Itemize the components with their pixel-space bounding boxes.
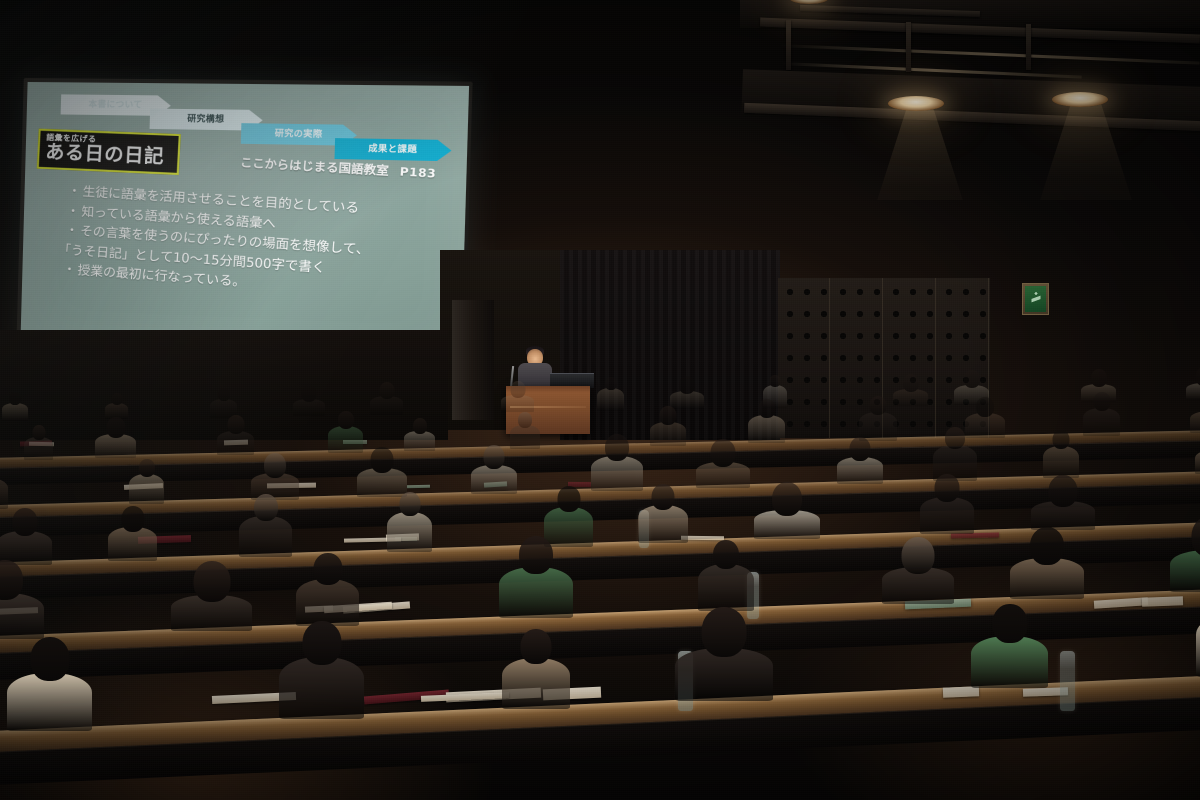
audience-member bbox=[7, 673, 92, 731]
audience-member bbox=[882, 567, 954, 604]
audience-member-head bbox=[1049, 475, 1078, 507]
audience-member-head bbox=[660, 406, 677, 425]
audience-member-head bbox=[679, 376, 695, 394]
audience-member-head bbox=[902, 537, 935, 574]
audience-member bbox=[471, 465, 517, 494]
audience-seating bbox=[0, 390, 1200, 800]
audience-member-head bbox=[605, 377, 617, 390]
projection-screen: 本書について 研究構想 研究の実際 成果と課題 語彙を広げる ある日の日記 ここ… bbox=[20, 82, 469, 365]
audience-member bbox=[171, 595, 252, 631]
audience-member-head bbox=[945, 427, 965, 449]
audience-member bbox=[279, 657, 364, 719]
audience-member-head bbox=[484, 445, 505, 469]
slide-bullet-list: ・生徒に語彙を活用させることを目的としている・知っている語彙から使える語彙へ・そ… bbox=[62, 181, 449, 307]
audience-member-head bbox=[903, 374, 919, 392]
audience-member bbox=[670, 391, 704, 409]
catwalk-rail bbox=[780, 44, 1200, 65]
ceiling-downlight bbox=[888, 96, 944, 111]
audience-member-head bbox=[1196, 367, 1200, 386]
audience-member bbox=[293, 399, 325, 416]
audience-member bbox=[1195, 450, 1200, 474]
slide-title: ある日の日記 bbox=[45, 142, 173, 169]
audience-member bbox=[1186, 383, 1200, 400]
audience-member bbox=[893, 389, 928, 406]
audience-member-head bbox=[9, 392, 21, 405]
audience-member bbox=[1031, 501, 1095, 530]
audience-member-head bbox=[302, 621, 341, 665]
audience-member-head bbox=[1091, 369, 1107, 387]
bullet-marker bbox=[56, 241, 57, 256]
handout-paper bbox=[1142, 596, 1183, 607]
audience-member-head bbox=[139, 459, 155, 477]
audience-member-head bbox=[870, 396, 887, 415]
bullet-marker: ・ bbox=[65, 222, 79, 238]
nav-step-4: 成果と課題 bbox=[334, 138, 451, 161]
audience-member-head bbox=[1030, 527, 1064, 565]
lecture-hall-scene: 本書について 研究構想 研究の実際 成果と課題 語彙を広げる ある日の日記 ここ… bbox=[0, 0, 1200, 800]
audience-member bbox=[696, 462, 750, 488]
audience-member bbox=[129, 474, 164, 504]
audience-member bbox=[239, 516, 292, 557]
green-book bbox=[407, 485, 430, 488]
ceiling-downlight bbox=[1052, 92, 1108, 107]
presentation-slide: 本書について 研究構想 研究の実際 成果と課題 語彙を広げる ある日の日記 ここ… bbox=[20, 82, 469, 365]
audience-member-head bbox=[111, 393, 122, 405]
rig-post bbox=[906, 22, 911, 72]
rig-post bbox=[786, 20, 791, 70]
audience-member-head bbox=[964, 370, 980, 388]
audience-member bbox=[296, 579, 359, 626]
audience-member-head bbox=[850, 437, 871, 461]
handout-paper bbox=[943, 686, 979, 697]
audience-member-head bbox=[32, 425, 45, 440]
audience-member bbox=[510, 425, 540, 449]
audience-member-head bbox=[652, 484, 675, 510]
audience-member bbox=[650, 422, 686, 446]
audience-member bbox=[387, 512, 432, 552]
audience-member-head bbox=[519, 536, 553, 574]
audience-member-head bbox=[518, 412, 532, 428]
audience-member-head bbox=[302, 385, 317, 402]
audience-member-head bbox=[992, 604, 1027, 643]
audience-member bbox=[2, 403, 28, 421]
audience-member bbox=[1170, 550, 1200, 592]
bullet-marker: ・ bbox=[66, 202, 80, 218]
audience-member bbox=[370, 396, 403, 415]
emergency-exit-sign bbox=[1022, 283, 1049, 315]
audience-member-head bbox=[218, 388, 230, 401]
audience-member bbox=[1043, 446, 1079, 478]
audience-member-head bbox=[371, 447, 394, 473]
audience-member-head bbox=[264, 453, 286, 478]
audience-member bbox=[501, 395, 534, 412]
audience-member-head bbox=[338, 411, 354, 429]
audience-member bbox=[597, 388, 624, 411]
audience-member bbox=[328, 426, 363, 453]
audience-member-head bbox=[976, 397, 994, 417]
audience-member bbox=[24, 437, 53, 460]
audience-member bbox=[217, 431, 254, 455]
audience-member-head bbox=[557, 486, 580, 512]
audience-member-head bbox=[605, 434, 629, 461]
audience-member bbox=[754, 510, 820, 539]
audience-member bbox=[748, 415, 785, 443]
audience-member bbox=[1190, 411, 1200, 433]
water-bottle bbox=[1060, 651, 1075, 711]
audience-member-head bbox=[106, 417, 125, 438]
audience-member bbox=[499, 567, 573, 618]
audience-member-head bbox=[770, 375, 781, 387]
rig-post bbox=[1026, 24, 1031, 70]
audience-member-head bbox=[521, 629, 552, 664]
audience-member bbox=[357, 468, 407, 497]
audience-member-head bbox=[713, 540, 739, 569]
audience-member-head bbox=[313, 553, 342, 585]
audience-member-head bbox=[12, 508, 37, 536]
audience-member bbox=[837, 457, 883, 484]
exit-pictogram-icon bbox=[1025, 286, 1046, 312]
audience-member-head bbox=[227, 415, 244, 434]
audience-member-head bbox=[379, 382, 394, 399]
audience-member-head bbox=[1053, 430, 1070, 449]
audience-member bbox=[0, 593, 44, 639]
audience-member bbox=[591, 456, 643, 491]
audience-member bbox=[1010, 558, 1084, 599]
audience-member bbox=[95, 434, 136, 458]
audience-member bbox=[698, 564, 754, 611]
audience-member bbox=[108, 527, 157, 561]
running-man-icon bbox=[1031, 291, 1040, 307]
audience-member-head bbox=[254, 494, 278, 521]
audience-member bbox=[920, 497, 974, 534]
audience-member bbox=[971, 636, 1048, 688]
audience-member-head bbox=[399, 492, 420, 516]
audience-member bbox=[638, 505, 688, 543]
bullet-marker: ・ bbox=[68, 183, 82, 199]
audience-member bbox=[404, 431, 435, 451]
audience-member-head bbox=[30, 637, 69, 681]
audience-member-head bbox=[935, 474, 960, 502]
audience-member-head bbox=[413, 418, 427, 434]
audience-member bbox=[675, 648, 773, 701]
audience-member-head bbox=[702, 607, 747, 657]
audience-member bbox=[965, 413, 1005, 438]
slide-subtitle-page: P183 bbox=[399, 165, 436, 181]
audience-member-head bbox=[510, 381, 525, 398]
audience-member bbox=[1083, 408, 1120, 436]
audience-member-head bbox=[121, 506, 144, 532]
audience-member-head bbox=[758, 399, 775, 418]
bullet-marker: ・ bbox=[63, 261, 77, 277]
audience-member-head bbox=[772, 482, 802, 516]
audience-member-head bbox=[193, 561, 230, 602]
audience-member bbox=[859, 412, 897, 441]
audience-member-head bbox=[1093, 392, 1110, 411]
audience-member bbox=[544, 507, 593, 547]
slide-title-box: 語彙を広げる ある日の日記 bbox=[37, 129, 181, 175]
audience-member-head bbox=[711, 439, 736, 467]
audience-member bbox=[502, 658, 570, 709]
